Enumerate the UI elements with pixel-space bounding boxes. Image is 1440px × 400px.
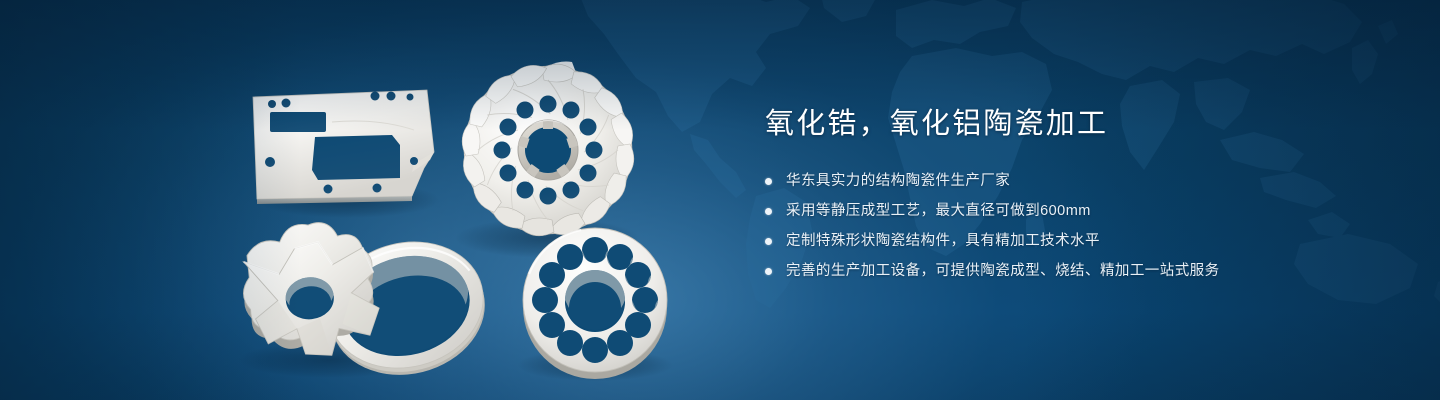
- list-item-label: 完善的生产加工设备，可提供陶瓷成型、烧结、精加工一站式服务: [786, 262, 1220, 281]
- bullet-dot-icon: [765, 268, 772, 275]
- bullet-dot-icon: [765, 208, 772, 215]
- list-item: 华东具实力的结构陶瓷件生产厂家: [765, 170, 1385, 193]
- banner-copy: 氧化锆，氧化铝陶瓷加工 华东具实力的结构陶瓷件生产厂家 采用等静压成型工艺，最大…: [765, 108, 1385, 290]
- list-item: 完善的生产加工设备，可提供陶瓷成型、烧结、精加工一站式服务: [765, 260, 1385, 283]
- list-item: 定制特殊形状陶瓷结构件，具有精加工技术水平: [765, 230, 1385, 253]
- list-item-label: 定制特殊形状陶瓷结构件，具有精加工技术水平: [786, 232, 1100, 251]
- list-item-label: 采用等静压成型工艺，最大直径可做到600mm: [786, 202, 1091, 221]
- feature-list: 华东具实力的结构陶瓷件生产厂家 采用等静压成型工艺，最大直径可做到600mm 定…: [765, 170, 1385, 283]
- list-item: 采用等静压成型工艺，最大直径可做到600mm: [765, 200, 1385, 223]
- list-item-label: 华东具实力的结构陶瓷件生产厂家: [786, 172, 1010, 191]
- hero-banner: 氧化锆，氧化铝陶瓷加工 华东具实力的结构陶瓷件生产厂家 采用等静压成型工艺，最大…: [0, 0, 1440, 400]
- page-title: 氧化锆，氧化铝陶瓷加工: [765, 108, 1385, 141]
- bullet-dot-icon: [765, 178, 772, 185]
- bullet-dot-icon: [765, 238, 772, 245]
